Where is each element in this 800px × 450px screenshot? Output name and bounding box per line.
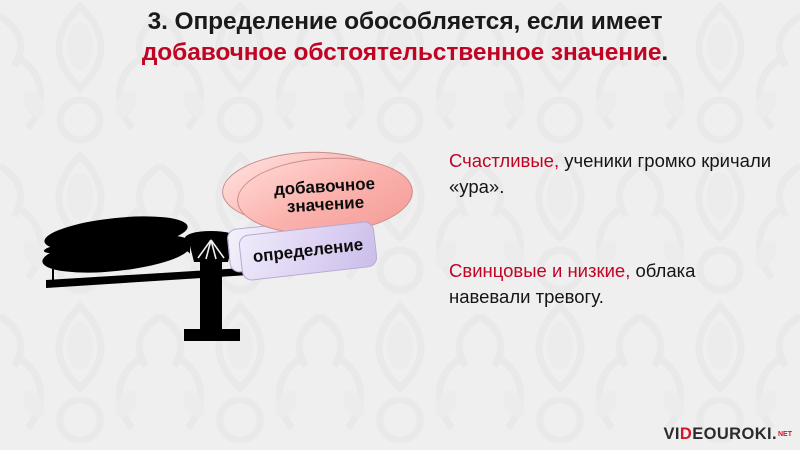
page-title: 3. Определение обособляется, если имеет … bbox=[60, 6, 750, 69]
example-sentence-1: Счастливые, ученики громко кричали «ура»… bbox=[449, 148, 779, 201]
title-line-2: добавочное обстоятельственное значение. bbox=[60, 37, 750, 68]
example-1-accent: Счастливые, bbox=[449, 150, 559, 171]
example-2-accent: Свинцовые и низкие, bbox=[449, 260, 630, 281]
watermark-part-2: EOUROKI. bbox=[692, 425, 777, 444]
watermark-suffix: NET bbox=[778, 431, 792, 438]
title-line-1: 3. Определение обособляется, если имеет bbox=[60, 6, 750, 37]
watermark-letter-d: D bbox=[680, 425, 692, 444]
title-period: . bbox=[661, 39, 668, 66]
callout-box-front-label: определение bbox=[252, 236, 364, 266]
watermark-logo: VIDEOUROKI.NET bbox=[663, 425, 792, 444]
slide-canvas: 3. Определение обособляется, если имеет … bbox=[0, 0, 800, 450]
watermark-part-1: VI bbox=[663, 425, 679, 444]
title-accent-phrase: добавочное обстоятельственное значение bbox=[142, 39, 662, 66]
callout-ellipse-front-label: добавочное значение bbox=[251, 174, 399, 219]
example-sentence-2: Свинцовые и низкие, облака навевали трев… bbox=[449, 258, 779, 311]
